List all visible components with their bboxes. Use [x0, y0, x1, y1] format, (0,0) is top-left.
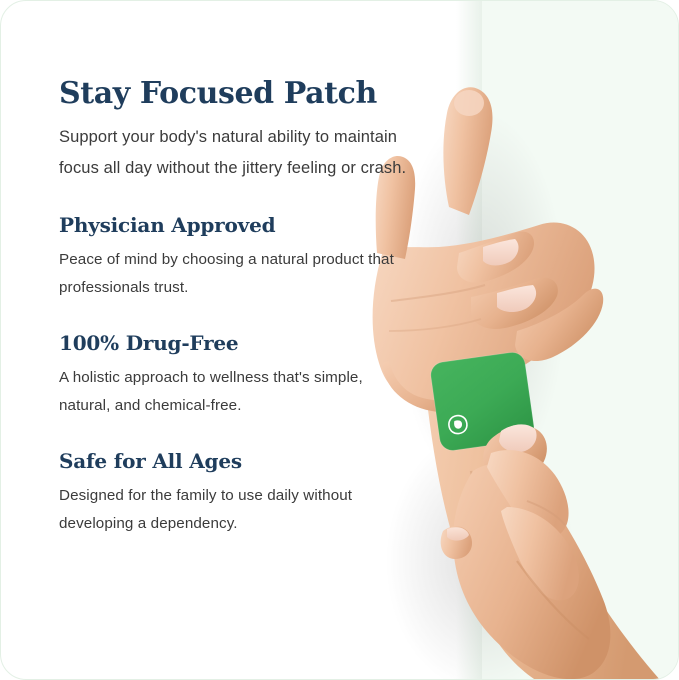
feature-physician-approved: Physician Approved Peace of mind by choo…: [59, 214, 407, 302]
page-title: Stay Focused Patch: [59, 77, 407, 110]
feature-body: Peace of mind by choosing a natural prod…: [59, 246, 407, 302]
panel-edge-shadow: [456, 1, 482, 680]
feature-safe-all-ages: Safe for All Ages Designed for the famil…: [59, 450, 407, 538]
feature-body: Designed for the family to use daily wit…: [59, 482, 407, 538]
mint-background-panel: [482, 1, 678, 680]
feature-body: A holistic approach to wellness that's s…: [59, 364, 407, 420]
feature-drug-free: 100% Drug-Free A holistic approach to we…: [59, 332, 407, 420]
product-lede: Support your body's natural ability to m…: [59, 122, 407, 184]
product-infographic-card: Stay Focused Patch Support your body's n…: [0, 0, 679, 680]
feature-title: Safe for All Ages: [59, 450, 407, 473]
feature-title: Physician Approved: [59, 214, 407, 237]
copy-column: Stay Focused Patch Support your body's n…: [59, 77, 407, 538]
feature-title: 100% Drug-Free: [59, 332, 407, 355]
